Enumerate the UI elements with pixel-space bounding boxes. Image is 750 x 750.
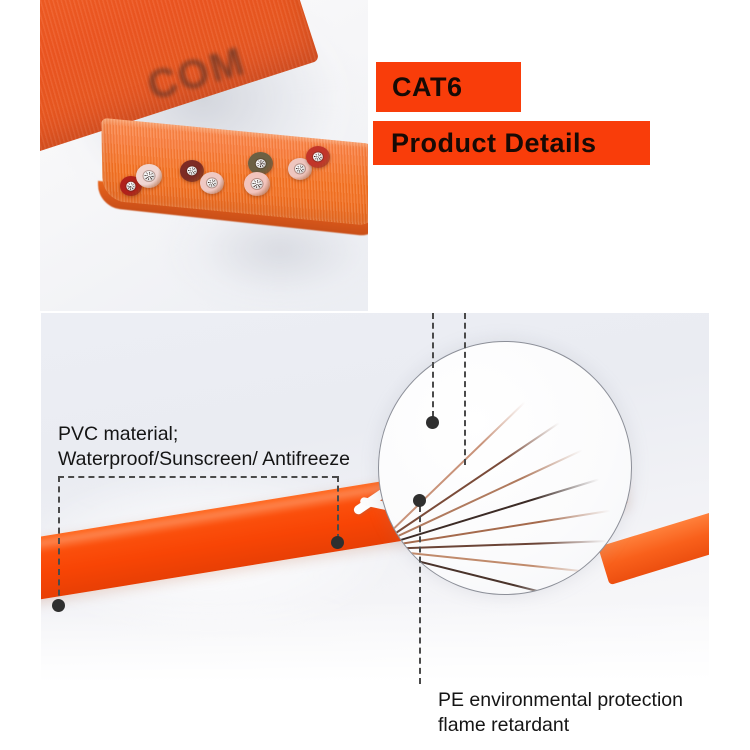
conductor-core: [187, 166, 197, 175]
product-detail-image: COM CAT6 Product Details: [0, 0, 750, 750]
bottom-panel: [41, 313, 709, 750]
conductor-core: [255, 159, 266, 169]
leader-line-split-vertical: [337, 476, 339, 540]
leader-line-pvc-horizontal: [58, 476, 338, 478]
copper-strand-2: [381, 421, 560, 543]
conductor-core: [295, 164, 305, 173]
conductor-core: [144, 171, 155, 181]
leader-line-magnifier-vertical: [464, 313, 466, 465]
annotation-pe-flame-retardant: PE environmental protection flame retard…: [438, 688, 683, 738]
conductor-4: [200, 172, 224, 194]
marker-dot-conductor: [426, 416, 439, 429]
conductor-core: [207, 178, 217, 187]
copper-strand-1: [380, 401, 525, 541]
conductor-6: [244, 172, 270, 196]
copper-strand-4: [381, 478, 600, 546]
annotation-pvc-material: PVC material; Waterproof/Sunscreen/ Anti…: [58, 422, 350, 472]
cable-cross-section-photo: COM: [40, 0, 368, 311]
marker-dot-core: [413, 494, 426, 507]
top-panel: COM: [40, 0, 368, 311]
conductor-2: [136, 164, 162, 188]
marker-dot-jacket: [52, 599, 65, 612]
conductor-core: [126, 182, 135, 190]
conductor-core: [252, 179, 263, 189]
marker-dot-split: [331, 536, 344, 549]
badge-cat6: CAT6: [376, 62, 521, 112]
leader-line-pvc-vertical: [58, 476, 60, 606]
magnifier-circle: [378, 341, 632, 595]
leader-line-conductor-vertical: [432, 313, 434, 417]
conductor-core: [313, 152, 323, 161]
conductor-8: [306, 146, 330, 168]
badge-product-details: Product Details: [373, 121, 650, 165]
leader-line-core-vertical: [419, 506, 421, 684]
